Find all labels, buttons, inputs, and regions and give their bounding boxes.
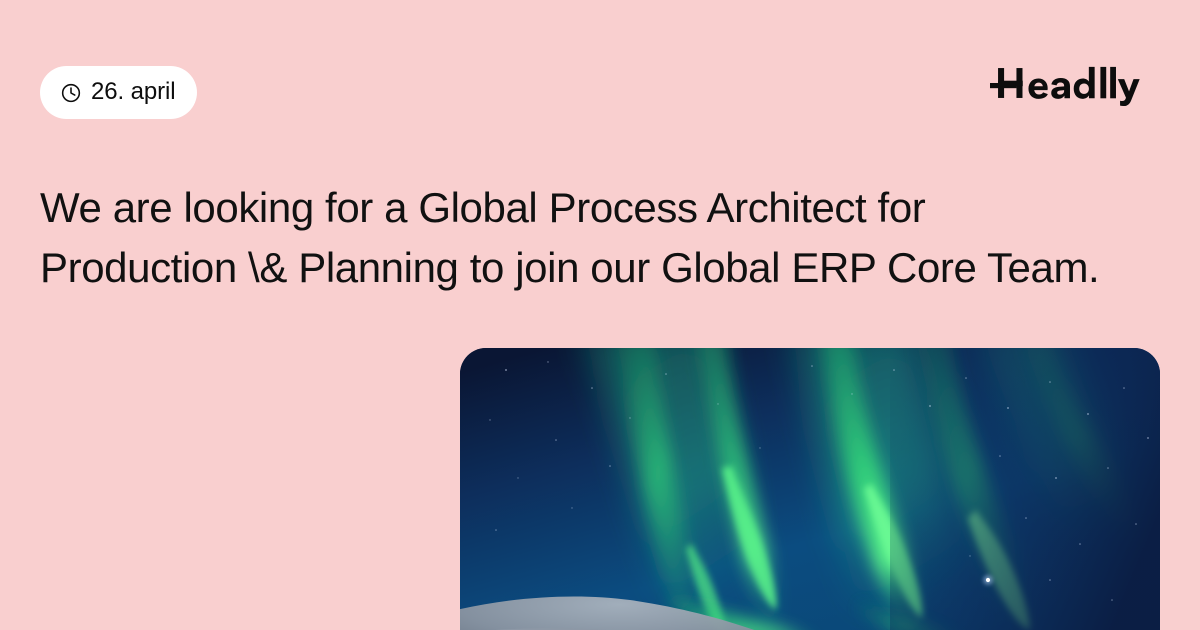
headly-wordmark-icon bbox=[990, 60, 1163, 106]
date-label: 26. april bbox=[91, 80, 175, 106]
social-card: 26. april bbox=[0, 0, 1200, 630]
headline-line-1: We are looking for a Global Process Arch… bbox=[40, 178, 1120, 238]
date-badge: 26. april bbox=[40, 66, 197, 119]
clock-icon bbox=[60, 82, 82, 104]
aurora-borealis-image bbox=[460, 348, 1160, 630]
headline-line-2: Production \& Planning to join our Globa… bbox=[40, 238, 1120, 298]
bright-star bbox=[983, 575, 992, 584]
page-title: We are looking for a Global Process Arch… bbox=[40, 178, 1120, 298]
hero-image-panel bbox=[460, 348, 1160, 630]
brand-logo[interactable] bbox=[990, 60, 1163, 106]
